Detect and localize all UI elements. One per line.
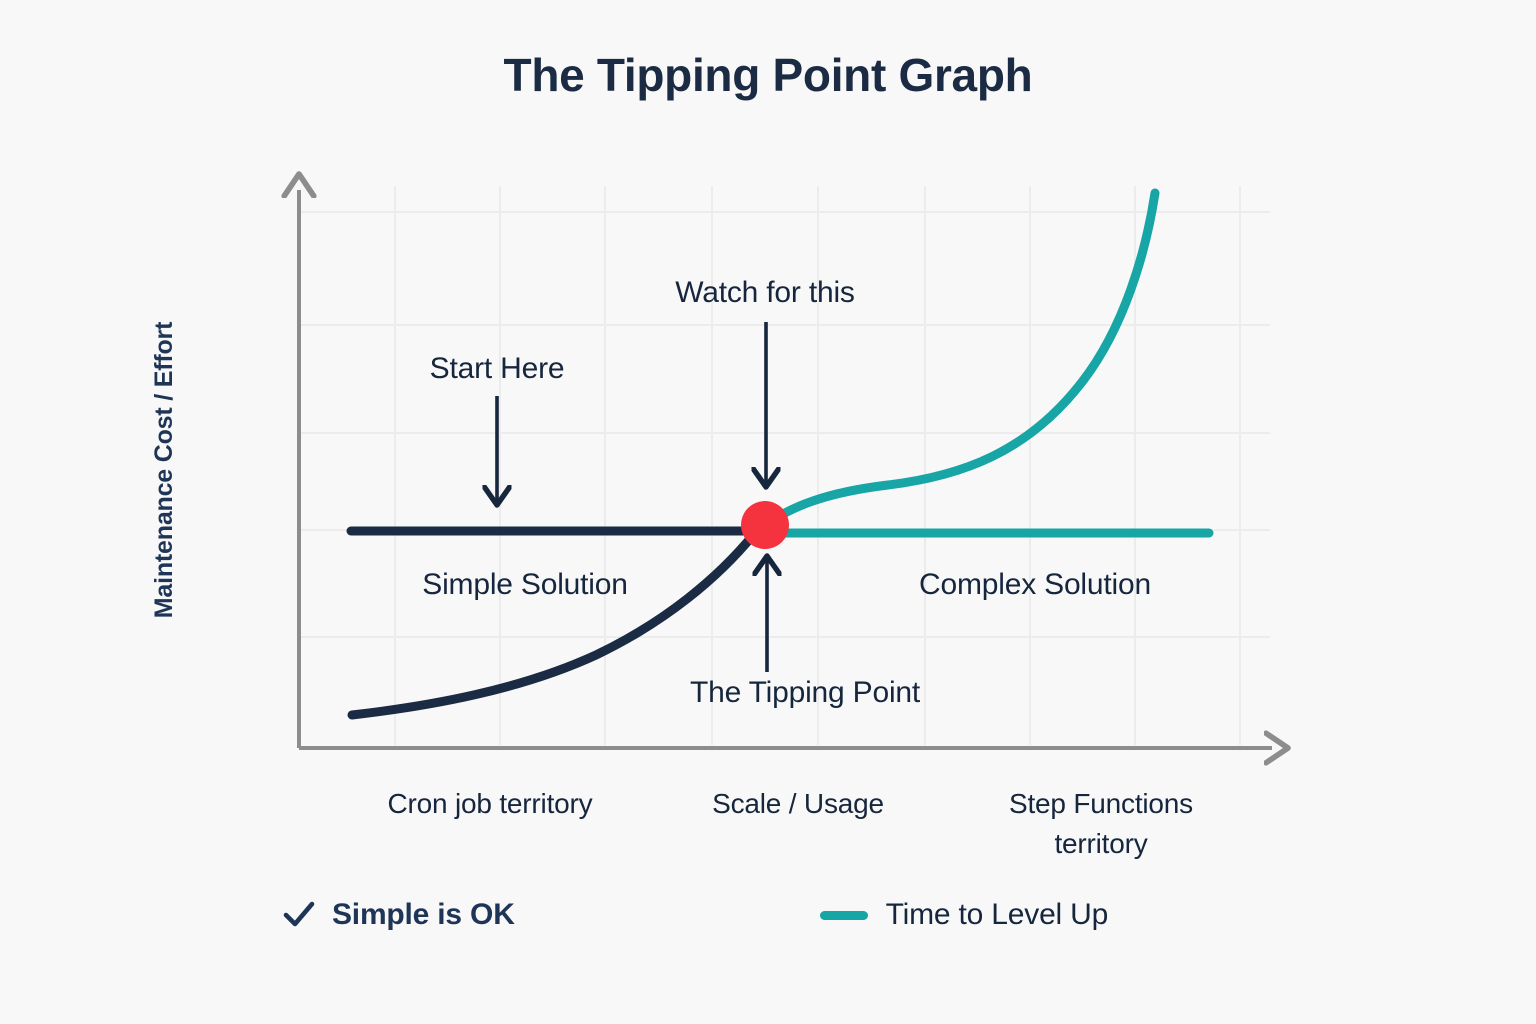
check-icon (282, 898, 316, 932)
annotation-start-here: Start Here (0, 352, 994, 386)
legend-item-simple-is-ok[interactable]: Simple is OK (282, 898, 515, 932)
x-category-label-2-line1: Scale / Usage (648, 784, 948, 824)
tipping-point-marker[interactable] (741, 501, 789, 549)
chart-canvas: The Tipping Point Graph Maintenance Cost… (0, 0, 1536, 1024)
legend-label-simple-is-ok: Simple is OK (332, 898, 515, 932)
annotation-watch-for-this: Watch for this (0, 276, 1530, 310)
tipping-point-chart (0, 0, 1536, 1024)
grid-lines (300, 186, 1270, 745)
x-category-label-3-line2: territory (972, 824, 1230, 864)
chart-legend: Simple is OK Time to Level Up (282, 898, 1108, 932)
x-category-label-1-line1: Cron job territory (340, 784, 640, 824)
legend-item-time-to-level-up[interactable]: Time to Level Up (820, 898, 1108, 932)
x-category-label-2: Scale / Usage (648, 784, 948, 824)
x-category-label-3-line1: Step Functions (972, 784, 1230, 824)
x-category-label-1: Cron job territory (340, 784, 640, 824)
line-dash-icon (820, 911, 868, 920)
x-category-label-3: Step Functions territory (972, 784, 1230, 864)
annotation-tipping-point: The Tipping Point (0, 676, 1536, 710)
annotation-complex-solution: Complex Solution (0, 568, 1536, 602)
legend-label-time-to-level-up: Time to Level Up (886, 898, 1108, 932)
